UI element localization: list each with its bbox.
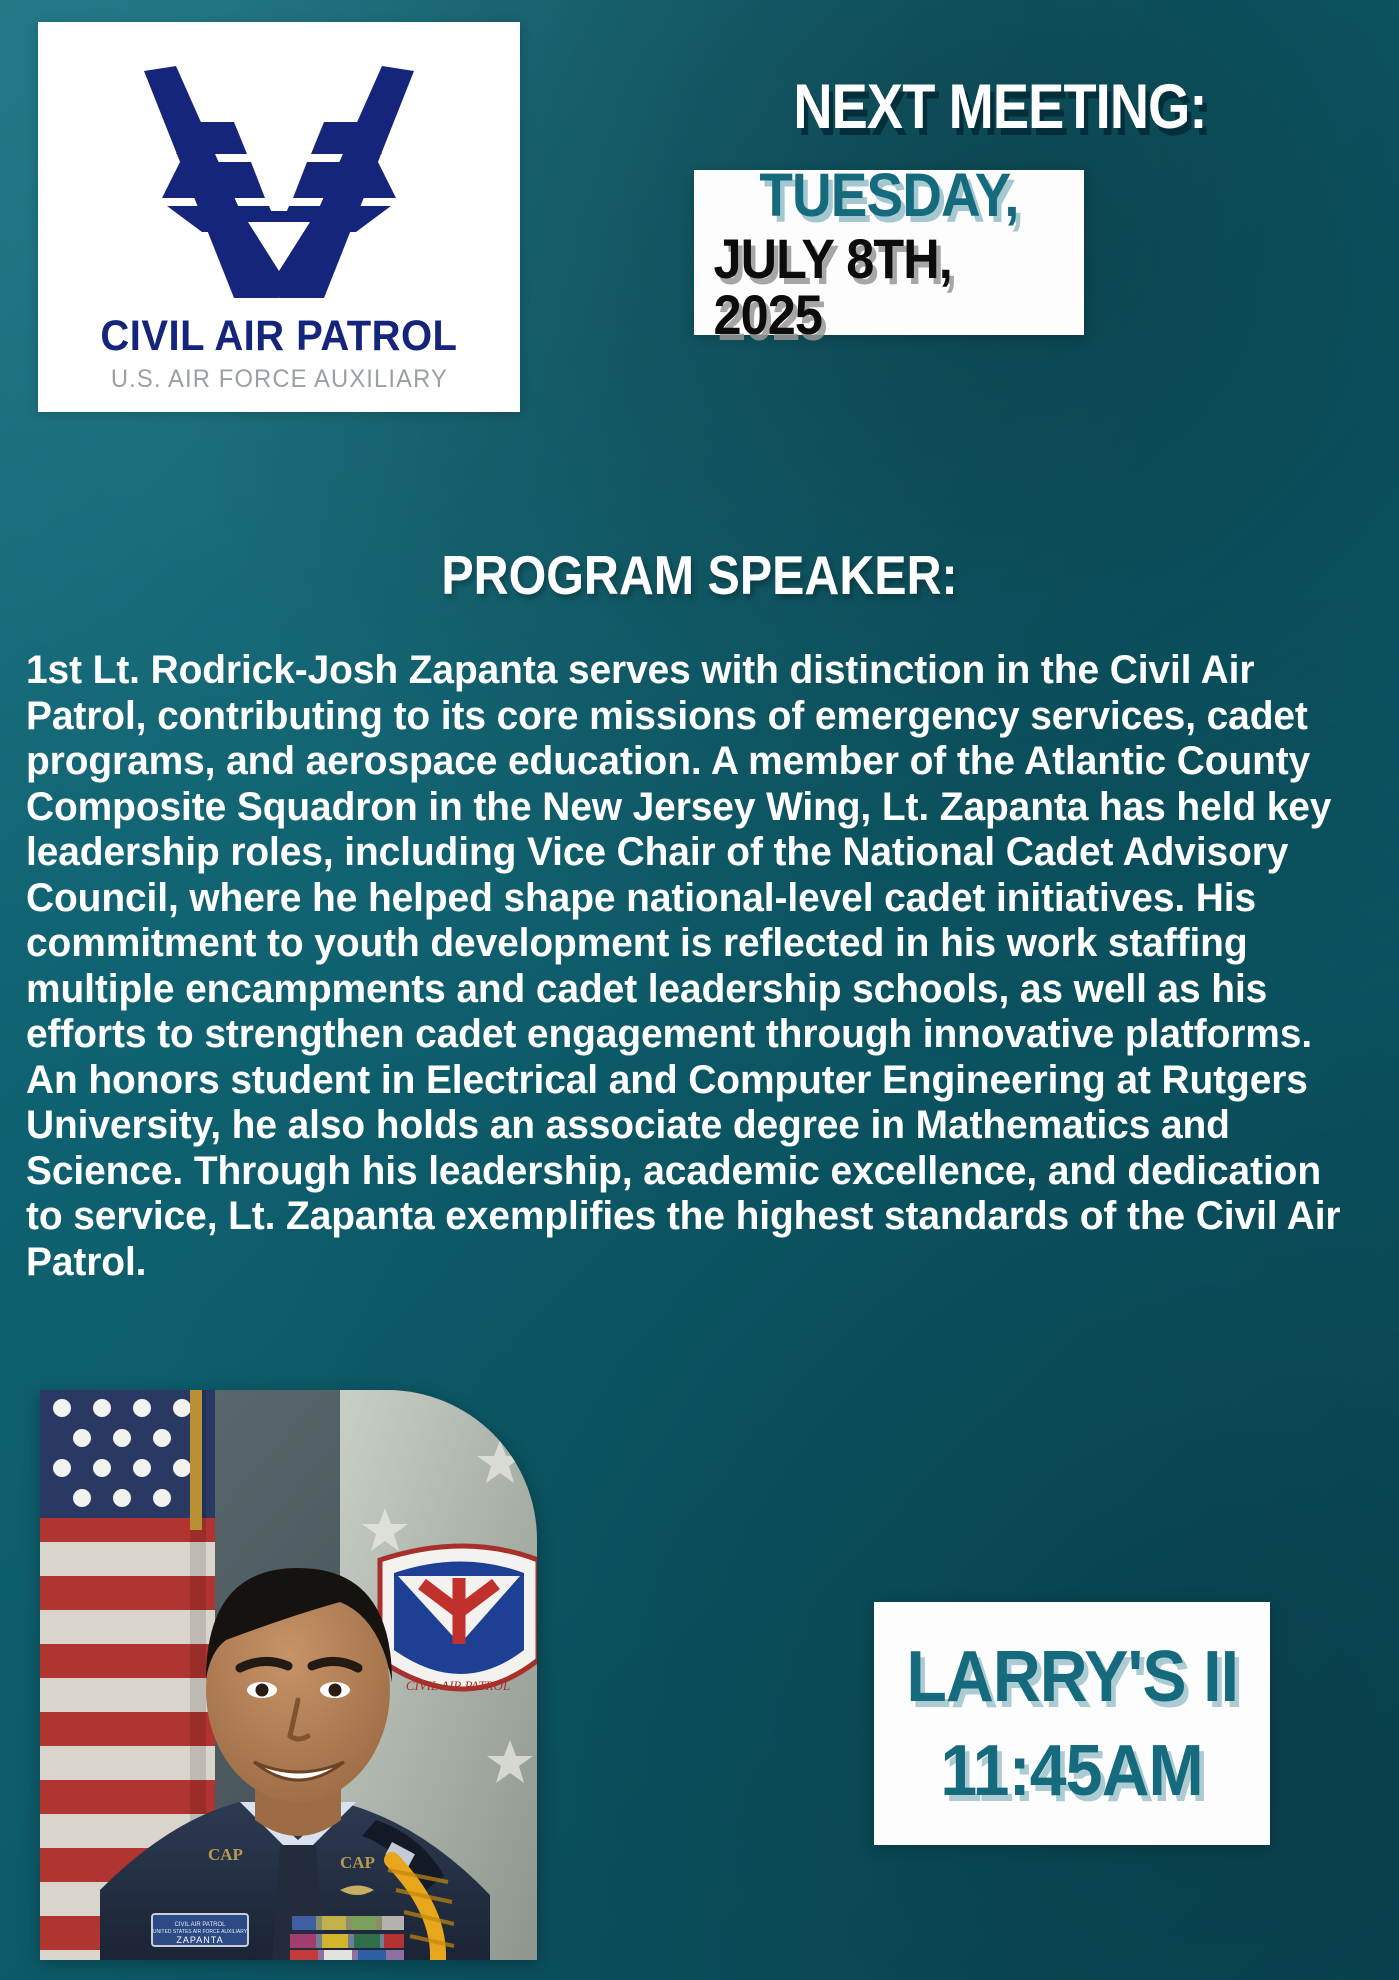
uniform-nameplate: CIVIL AIR PATROL UNITED STATES AIR FORCE… [152, 1914, 248, 1946]
meeting-day-text: TUESDAY, [759, 166, 1018, 226]
svg-text:CIVIL AIR PATROL: CIVIL AIR PATROL [406, 1678, 510, 1693]
svg-text:ZAPANTA: ZAPANTA [176, 1935, 223, 1945]
uniform-cap-insignia-right: CAP [340, 1853, 375, 1872]
svg-text:CIVIL AIR PATROL: CIVIL AIR PATROL [175, 1922, 227, 1928]
logo-title: CIVIL AIR PATROL [100, 315, 457, 358]
venue-name-text: LARRY'S II [906, 1641, 1238, 1713]
next-meeting-label: NEXT MEETING: [733, 76, 1266, 139]
meeting-date-box: TUESDAY, JULY 8TH, 2025 [694, 170, 1084, 335]
program-speaker-heading: PROGRAM SPEAKER: [84, 548, 1315, 603]
civil-air-patrol-wings-logo-icon [84, 36, 474, 311]
venue-box: LARRY'S II 11:45AM [874, 1602, 1270, 1845]
cap-logo-card: CIVIL AIR PATROL U.S. AIR FORCE AUXILIAR… [38, 22, 520, 412]
uniform-cap-insignia-left: CAP [208, 1845, 243, 1864]
speaker-bio-paragraph: 1st Lt. Rodrick-Josh Zapanta serves with… [26, 648, 1352, 1285]
logo-subtitle: U.S. AIR FORCE AUXILIARY [110, 365, 447, 394]
meeting-date-text: JULY 8TH, 2025 [714, 231, 1065, 343]
speaker-portrait-photo: CIVIL AIR PATROL [40, 1390, 537, 1960]
venue-time-text: 11:45AM [941, 1735, 1203, 1807]
poster-canvas: CIVIL AIR PATROL U.S. AIR FORCE AUXILIAR… [0, 0, 1399, 1980]
